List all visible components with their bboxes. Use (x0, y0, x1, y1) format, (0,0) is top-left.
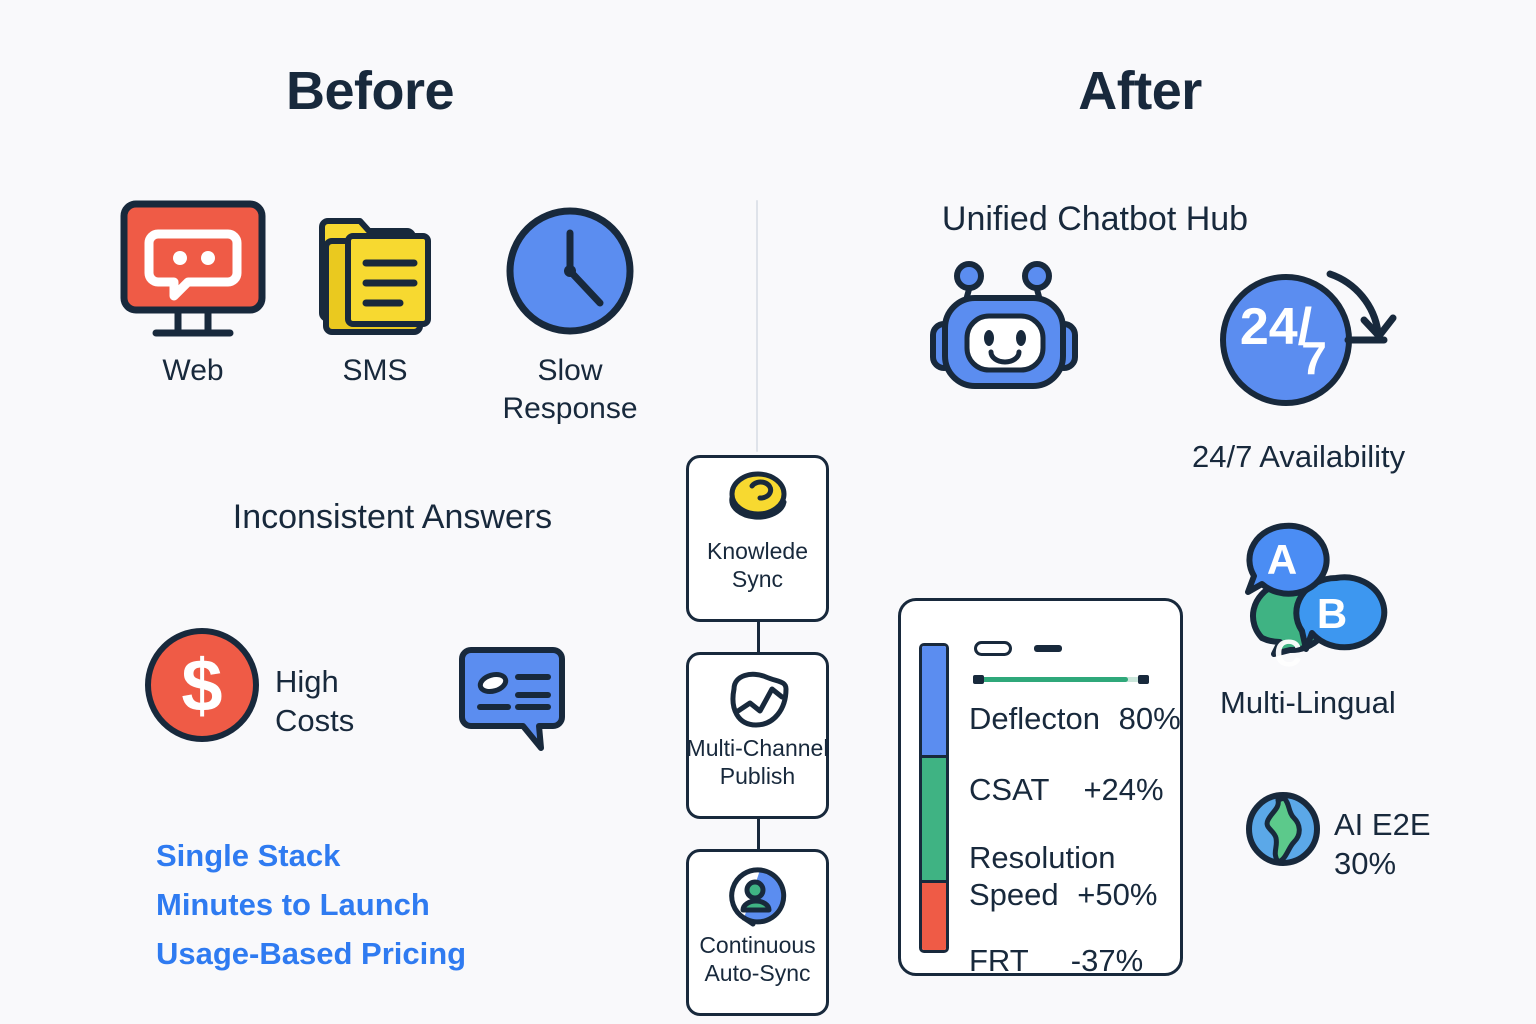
flow-card-3-labels: Continuous Auto-Sync (699, 932, 815, 987)
speech-bubbles-icon: C B A (1236, 518, 1396, 668)
pill-indicator-icon (974, 641, 1012, 656)
web-monitor-icon (118, 198, 268, 343)
page-title-after: After (950, 60, 1330, 122)
bar-segment-resolution (922, 758, 946, 880)
slow-response-label: Slow Response (470, 352, 670, 429)
high-costs-label: High Costs (275, 662, 455, 740)
dash-indicator-icon (1034, 645, 1062, 652)
progress-cap-left (973, 675, 984, 684)
multilingual-label: Multi-Lingual (1220, 684, 1396, 721)
metric-value-frt: -37% (1071, 943, 1143, 978)
metric-row-frt: FRT -37% (969, 943, 1179, 980)
availability-label: 24/7 Availability (1192, 438, 1405, 475)
flow-connector-1 (757, 622, 760, 652)
continuous-auto-sync-icon (722, 864, 794, 928)
flow-card-1-line1: Knowlede (707, 538, 808, 566)
metric-label-frt: FRT (969, 943, 1028, 978)
value-props-list: Single Stack Minutes to Launch Usage-Bas… (156, 832, 616, 979)
value-prop-minutes-to-launch: Minutes to Launch (156, 881, 616, 930)
flow-card-1-labels: Knowlede Sync (707, 538, 808, 593)
flow-card-knowledge-sync[interactable]: Knowlede Sync (686, 455, 829, 622)
infographic-canvas: Before After Web SMS (0, 0, 1536, 1024)
bar-segment-deflection (922, 646, 946, 755)
slow-response-line1: Slow (470, 352, 670, 390)
flow-card-2-line1: Multi-Channel (687, 735, 829, 763)
svg-text:$: $ (181, 644, 222, 727)
metrics-rows: Deflecton 80% CSAT +24% Resolution Speed… (969, 697, 1179, 980)
flow-card-multi-channel-publish[interactable]: Multi-Channel Publish (686, 652, 829, 819)
multi-channel-publish-icon (722, 667, 794, 731)
24-7-circle-icon: 24/ 7 (1218, 262, 1423, 417)
value-prop-usage-based-pricing: Usage-Based Pricing (156, 930, 616, 979)
flow-card-2-line2: Publish (687, 763, 829, 791)
metric-row-deflection: Deflecton 80% (969, 701, 1179, 738)
value-prop-single-stack: Single Stack (156, 832, 616, 881)
metric-value-csat: +24% (1083, 772, 1163, 807)
metrics-panel: Deflecton 80% CSAT +24% Resolution Speed… (898, 598, 1183, 976)
flow-card-3-line2: Auto-Sync (699, 960, 815, 988)
ai-e2e-labels: AI E2E 30% (1334, 806, 1431, 884)
svg-text:7: 7 (1301, 332, 1327, 384)
metric-row-resolution: Resolution Speed +50% (969, 840, 1179, 913)
sms-documents-icon (312, 205, 442, 340)
dollar-coin-icon: $ (142, 625, 262, 745)
page-title-before: Before (180, 60, 560, 122)
ai-e2e-line2: 30% (1334, 845, 1431, 884)
high-costs-line1: High (275, 662, 455, 701)
flow-card-continuous-auto-sync[interactable]: Continuous Auto-Sync (686, 849, 829, 1016)
svg-text:A: A (1267, 536, 1297, 583)
flow-card-3-line1: Continuous (699, 932, 815, 960)
metric-label-csat: CSAT (969, 772, 1049, 807)
inconsistent-answers-label: Inconsistent Answers (150, 498, 635, 537)
progress-fill (973, 677, 1128, 682)
metric-label-resolution-speed: Speed (969, 877, 1059, 912)
progress-cap-right (1138, 675, 1149, 684)
svg-text:C: C (1274, 633, 1301, 668)
metric-value-resolution: +50% (1077, 877, 1157, 912)
metric-label-resolution: Resolution (969, 840, 1179, 877)
unified-chatbot-hub-title: Unified Chatbot Hub (860, 200, 1330, 239)
globe-icon (1244, 790, 1322, 868)
metrics-stacked-bar (919, 643, 949, 953)
flow-connector-2 (757, 819, 760, 849)
web-label: Web (113, 352, 273, 390)
ai-e2e-line1: AI E2E (1334, 806, 1431, 845)
flow-card-1-line2: Sync (707, 566, 808, 594)
high-costs-line2: Costs (275, 701, 455, 740)
svg-text:B: B (1317, 590, 1347, 637)
slow-clock-icon (504, 205, 636, 337)
metric-value-deflection: 80% (1119, 701, 1181, 736)
bar-segment-frt (922, 883, 946, 950)
metric-row-csat: CSAT +24% (969, 772, 1179, 809)
chatbot-robot-icon (915, 248, 1095, 408)
progress-rail (973, 677, 1149, 682)
metric-label-deflection: Deflecton (969, 701, 1100, 736)
knowledge-sync-icon (722, 470, 794, 534)
section-divider (756, 200, 758, 452)
chat-bubble-lines-icon (456, 645, 568, 755)
sms-label: SMS (295, 352, 455, 390)
flow-card-2-labels: Multi-Channel Publish (687, 735, 829, 790)
metric-row-resolution-second-line: Speed +50% (969, 877, 1179, 914)
slow-response-line2: Response (470, 390, 670, 428)
